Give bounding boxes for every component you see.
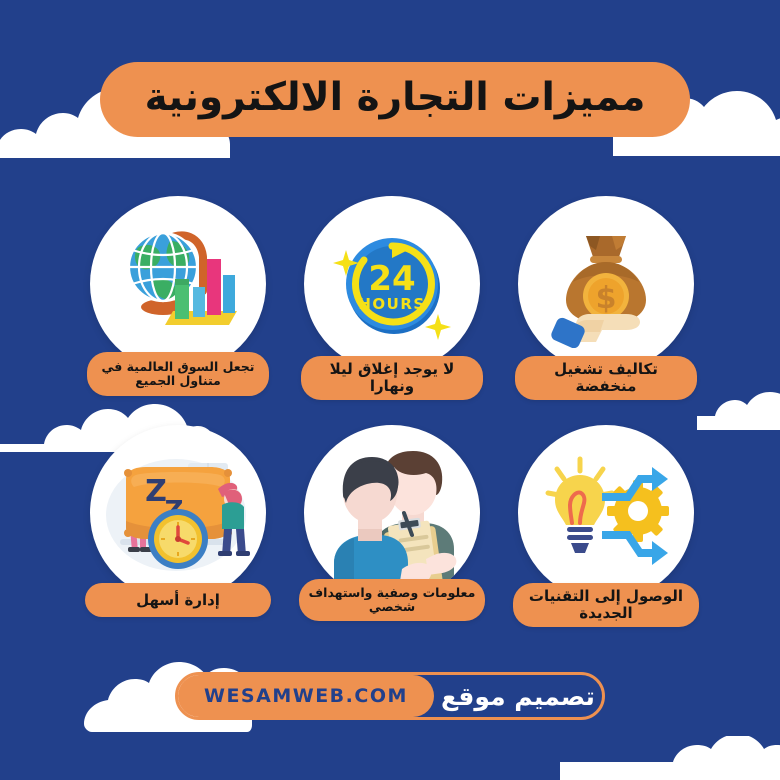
cloud-bottom-right [560, 736, 780, 780]
card-label: تجعل السوق العالمية في متناول الجميع [96, 360, 260, 389]
card-access-new-technologies[interactable]: الوصول إلى التقنيات الجديدة [518, 425, 694, 601]
card-label: تكاليف تشغيل منخفضة [524, 361, 688, 395]
card-icon-circle [90, 196, 266, 372]
card-label-pill: تجعل السوق العالمية في متناول الجميع [87, 352, 269, 396]
infographic-canvas: مميزات التجارة الالكترونية $ [0, 0, 780, 780]
svg-text:24: 24 [368, 259, 415, 299]
card-label-pill: لا يوجد إغلاق ليلا ونهارا [301, 356, 483, 400]
cloud-mid-right [697, 392, 780, 430]
card-easier-management[interactable]: Z Z [90, 425, 266, 601]
lightbulb-gear-arrows-icon [540, 449, 672, 577]
card-label-pill: تكاليف تشغيل منخفضة [515, 356, 697, 400]
footer-brand-label: WESAMWEB.COM [204, 685, 408, 707]
page-title-pill: مميزات التجارة الالكترونية [100, 62, 690, 137]
svg-text:$: $ [596, 281, 617, 316]
footer-bar: WESAMWEB.COM تصميم موقع [175, 672, 605, 720]
footer-brand-pill[interactable]: WESAMWEB.COM [178, 675, 434, 717]
card-label: لا يوجد إغلاق ليلا ونهارا [310, 361, 474, 395]
card-icon-circle [518, 425, 694, 601]
card-low-operating-costs[interactable]: $ تكاليف تشغيل منخفضة [518, 196, 694, 372]
card-icon-circle [304, 425, 480, 601]
card-icon-circle: 24 HOURS [304, 196, 480, 372]
card-label-pill: الوصول إلى التقنيات الجديدة [513, 583, 699, 627]
footer-tagline: تصميم موقع [441, 682, 595, 711]
card-descriptive-info-personal-targeting[interactable]: معلومات وصفية واستهداف شخصي [304, 425, 480, 601]
card-label: الوصول إلى التقنيات الجديدة [522, 588, 690, 622]
24-hours-badge-icon: 24 HOURS [326, 218, 458, 350]
card-label: معلومات وصفية واستهداف شخصي [308, 586, 476, 615]
card-no-closing-day-or-night[interactable]: 24 HOURS لا يوجد إغلاق ليلا ونهارا [304, 196, 480, 372]
card-icon-circle: Z Z [90, 425, 266, 601]
footer-tagline-area: تصميم موقع [434, 682, 602, 711]
card-label-pill: معلومات وصفية واستهداف شخصي [299, 579, 485, 621]
card-global-market-access[interactable]: تجعل السوق العالمية في متناول الجميع [90, 196, 266, 372]
svg-text:HOURS: HOURS [358, 295, 425, 313]
card-icon-circle: $ [518, 196, 694, 372]
two-people-clipboard-icon [316, 437, 468, 589]
card-label: إدارة أسهل [136, 592, 220, 609]
page-title: مميزات التجارة الالكترونية [145, 78, 646, 117]
money-bag-in-hand-icon: $ [542, 220, 670, 348]
card-label-pill: إدارة أسهل [85, 583, 271, 617]
globe-with-bar-chart-icon [113, 219, 243, 349]
pillow-sleep-clock-icon: Z Z [102, 443, 254, 583]
